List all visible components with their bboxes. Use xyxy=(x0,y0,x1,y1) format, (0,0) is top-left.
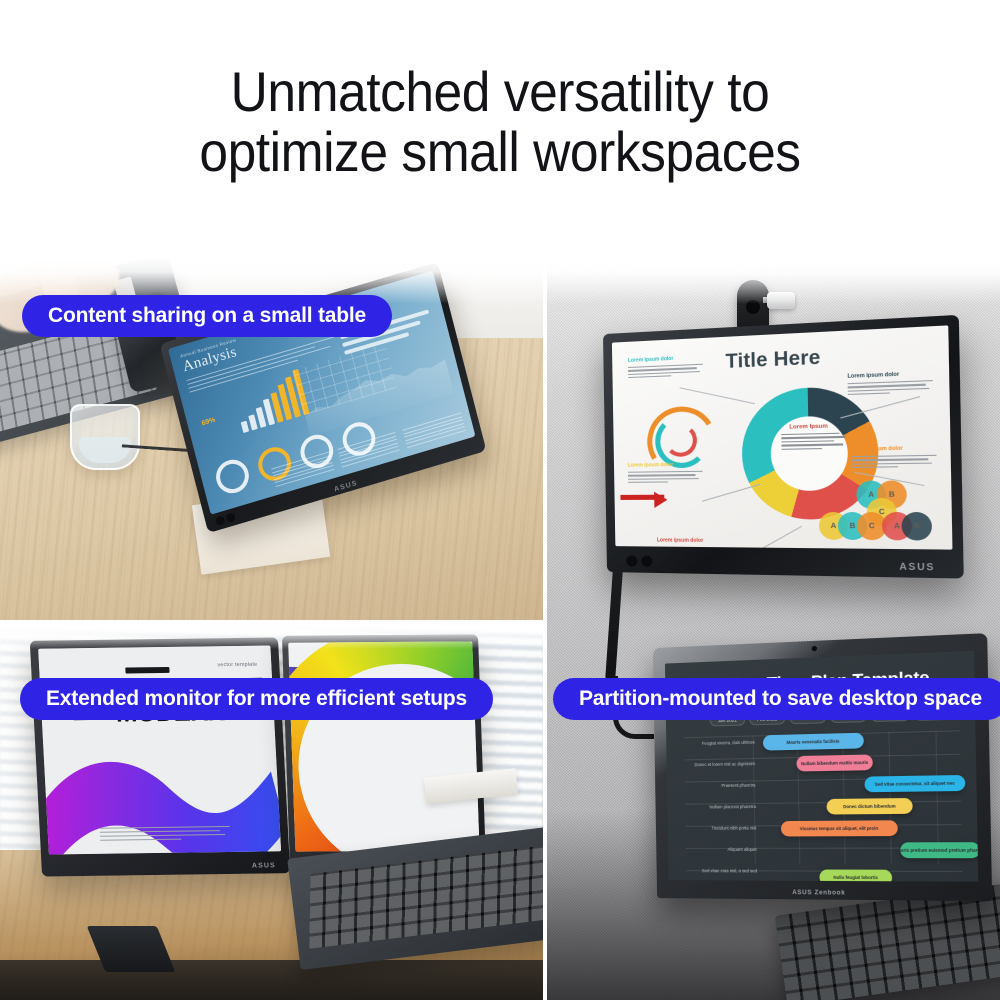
portable-monitor-mounted: Title Here Lorem Ipsum xyxy=(603,315,964,579)
infographic-title: Title Here xyxy=(725,347,820,374)
zenbook-logo: ASUS Zenbook xyxy=(792,890,845,897)
gantt-task-label: Aliquam aliquet xyxy=(684,847,757,853)
leader-line xyxy=(680,387,755,404)
gantt-bar: Donec dictum bibendum xyxy=(826,798,912,815)
partition-wall-scene: Title Here Lorem Ipsum xyxy=(547,258,1000,1000)
headline-line-1: Unmatched versatility to xyxy=(231,60,770,123)
caption-label: Partition-mounted to save desktop space xyxy=(579,687,982,711)
asus-logo: ASUS xyxy=(899,561,935,572)
top-fade-overlay xyxy=(547,258,1000,304)
caption-label: Content sharing on a small table xyxy=(48,304,366,328)
laptop-gantt: Project Time Plan Template Phasellus veh… xyxy=(653,633,992,901)
infographic-slide: Title Here Lorem Ipsum xyxy=(612,325,953,549)
donut-center-label: Lorem Ipsum xyxy=(775,423,843,431)
note-label: Lorem ipsum dolor xyxy=(657,537,733,544)
infographic-note-slate: Lorem ipsum dolor xyxy=(847,370,933,397)
venn-circle-b: B xyxy=(901,512,932,541)
gantt-task-label: Sed vitae cras nisl, a sed sed xyxy=(684,868,757,875)
venn-diagram-pair: A B xyxy=(882,512,943,543)
portable-monitor-poster: vector template oyels GRAPHIQUE MODERN A… xyxy=(30,637,291,876)
gantt-task-label: Nullam placerat pharetra xyxy=(683,804,756,811)
leader-line xyxy=(702,484,761,502)
monitor-screen xyxy=(288,641,479,851)
caption-label: Extended monitor for more efficient setu… xyxy=(46,687,467,711)
monitor-screen: vector template oyels GRAPHIQUE MODERN xyxy=(38,646,281,855)
page-title: Unmatched versatility to optimize small … xyxy=(40,62,960,183)
photo-grid: Annual Business Review Analysis 69% xyxy=(0,258,1000,1000)
floor-shadow xyxy=(0,960,543,1000)
dashboard-percent: 69% xyxy=(201,417,216,428)
note-label: Lorem ipsum dolor xyxy=(628,462,703,469)
monitor-screen: Title Here Lorem Ipsum xyxy=(612,325,953,549)
headline-line-2: optimize small workspaces xyxy=(40,122,960,182)
note-label: Lorem ipsum dolor xyxy=(847,370,932,380)
power-cable xyxy=(605,570,623,680)
rainbow-torus-graphic xyxy=(288,641,479,851)
monitor-buttons xyxy=(626,555,637,566)
gantt-bar: Sed vitae consectetur, sit aliquet nec xyxy=(864,775,965,792)
caption-content-sharing: Content sharing on a small table xyxy=(22,295,392,337)
infographic-note-orange: Lorem ipsum dolor xyxy=(851,445,937,471)
gantt-bar: Mauris venenatis facilisis xyxy=(763,733,864,751)
note-label: Lorem ipsum dolor xyxy=(628,354,703,364)
infographic-note-yellow: Lorem ipsum dolor xyxy=(628,462,703,486)
poster-tag-right: vector template xyxy=(217,662,257,669)
top-fade-overlay xyxy=(0,623,543,649)
red-arrow-icon xyxy=(620,495,664,500)
donut-center-text: Lorem Ipsum xyxy=(775,423,844,452)
gantt-task-label: Donec et lorem nisl ac dignissim xyxy=(682,761,755,769)
donut-ring xyxy=(212,456,252,497)
caption-partition-mounted: Partition-mounted to save desktop space xyxy=(553,678,1000,720)
photo-partition-mounted: Title Here Lorem Ipsum xyxy=(547,258,1000,1000)
gantt-bar: Nullam bibendum mattis mauris xyxy=(796,754,873,771)
graphique-poster: vector template oyels GRAPHIQUE MODERN xyxy=(38,646,281,855)
marketing-page: Unmatched versatility to optimize small … xyxy=(0,0,1000,1000)
caption-extended-monitor: Extended monitor for more efficient setu… xyxy=(20,678,493,720)
note-label: Lorem ipsum dolor xyxy=(851,445,936,453)
portable-monitor-rainbow xyxy=(282,634,486,867)
gantt-task-label: Tincidunt nibh porta nisl xyxy=(684,825,757,832)
leader-line xyxy=(750,526,802,550)
gantt-bar: Mauris pretium euismod pretium pharetra xyxy=(900,842,978,858)
gantt-bar: Nulla feugiat lobortis xyxy=(819,870,892,882)
asus-logo: ASUS xyxy=(252,862,276,869)
gantt-task-label: Praesent pharetra xyxy=(683,782,756,789)
poster-body-text xyxy=(100,826,231,844)
infographic-note-teal: Lorem ipsum dolor xyxy=(628,354,703,380)
gantt-bar: Vivamus tempus sit aliquet, elit proin xyxy=(781,820,898,836)
